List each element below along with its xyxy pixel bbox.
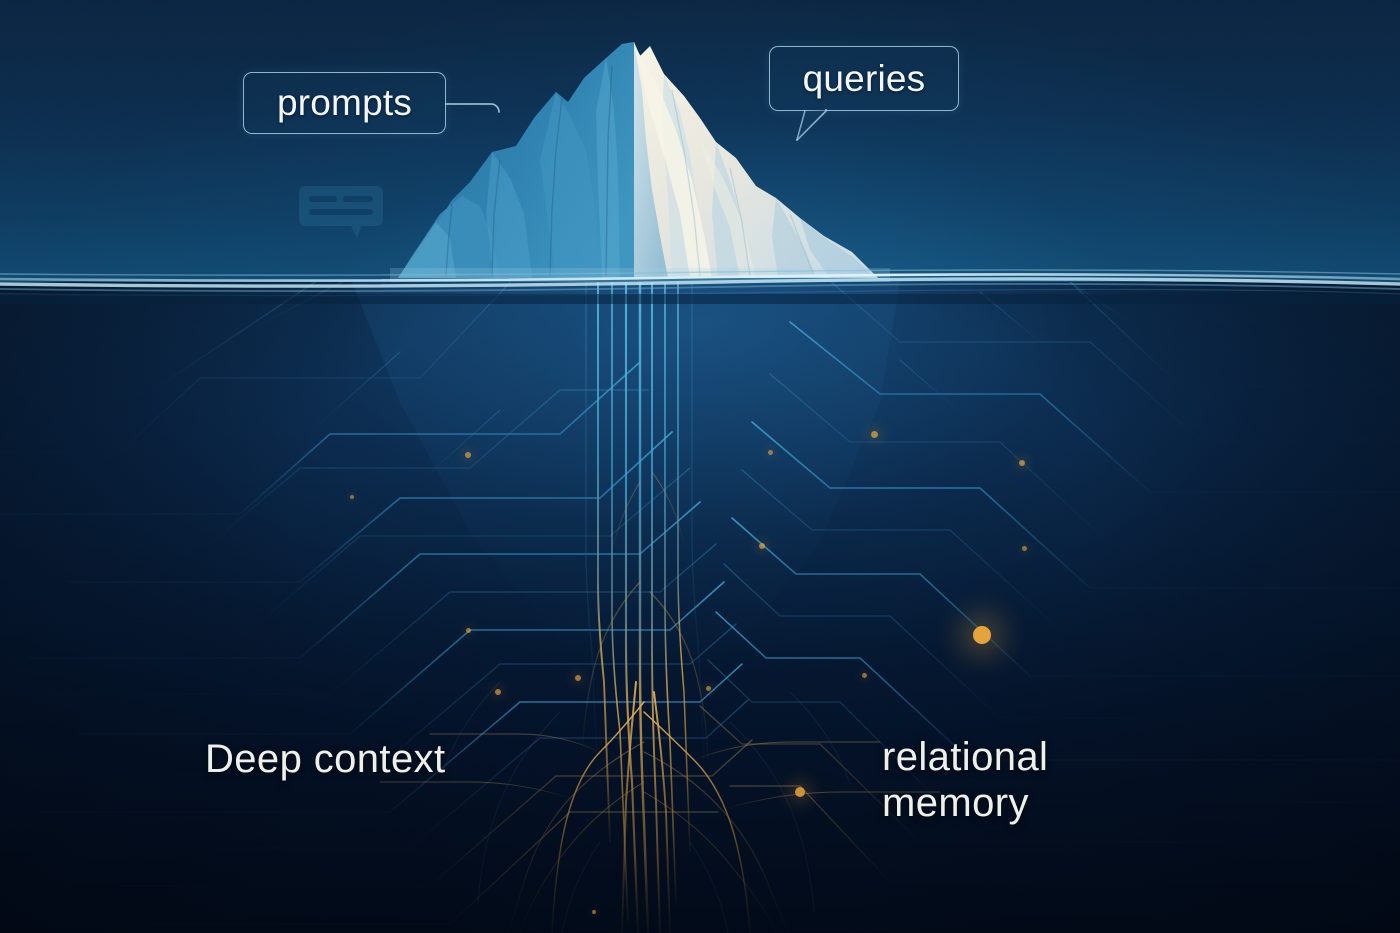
caption-relational-memory: relational memory — [882, 734, 1048, 827]
circuit-network — [0, 282, 1400, 933]
sea-glow — [0, 282, 1400, 933]
label-queries[interactable]: queries — [769, 46, 959, 111]
iceberg-above-water — [0, 0, 1400, 300]
prompts-connector-line — [445, 100, 505, 122]
chat-bubble-icon — [299, 182, 383, 244]
illustration-canvas: prompts queries Deep context relational … — [0, 0, 1400, 933]
queries-bubble-tail — [795, 109, 829, 142]
label-prompts[interactable]: prompts — [243, 72, 446, 134]
caption-deep-context: Deep context — [205, 736, 446, 782]
